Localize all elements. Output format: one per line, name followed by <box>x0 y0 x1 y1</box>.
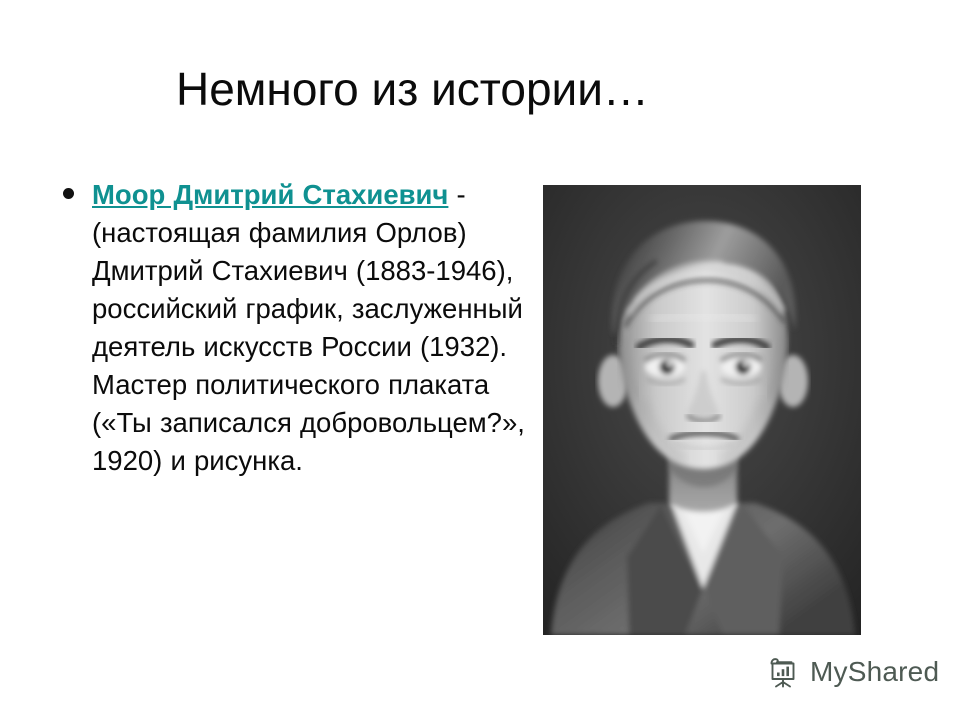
body-paragraph-rest: (настоящая фамилия Орлов) Дмитрий Стахие… <box>92 217 525 476</box>
page-title: Немного из истории… <box>176 62 649 116</box>
content-body: Моор Дмитрий Стахиевич - (настоящая фами… <box>58 176 538 480</box>
bullet-dot-icon <box>63 188 74 199</box>
list-item: Моор Дмитрий Стахиевич - (настоящая фами… <box>58 176 538 480</box>
flipchart-bar-chart-icon <box>767 655 801 689</box>
body-paragraph: Моор Дмитрий Стахиевич - (настоящая фами… <box>92 176 538 480</box>
presentation-slide: Немного из истории… Моор Дмитрий Стахиев… <box>0 0 960 720</box>
portrait-illustration <box>543 185 861 635</box>
myshared-watermark: MyShared <box>767 655 939 689</box>
link-trailing-dash: - <box>448 179 465 210</box>
person-link[interactable]: Моор Дмитрий Стахиевич <box>92 179 448 210</box>
portrait-photo <box>543 185 861 635</box>
myshared-label: MyShared <box>810 657 939 687</box>
